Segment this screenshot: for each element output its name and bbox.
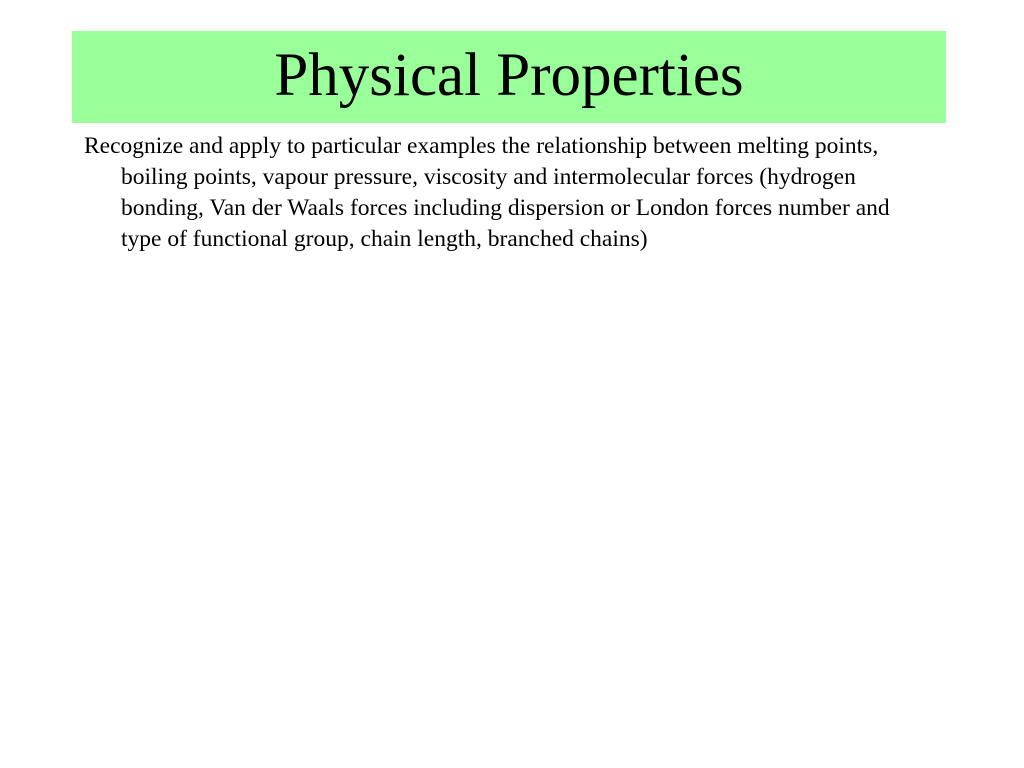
title-banner: Physical Properties [72, 31, 946, 123]
slide-canvas: Physical Properties Recognize and apply … [0, 0, 1024, 768]
body-paragraph: Recognize and apply to particular exampl… [84, 131, 904, 255]
body-text-block: Recognize and apply to particular exampl… [84, 131, 904, 255]
page-title: Physical Properties [72, 31, 946, 123]
